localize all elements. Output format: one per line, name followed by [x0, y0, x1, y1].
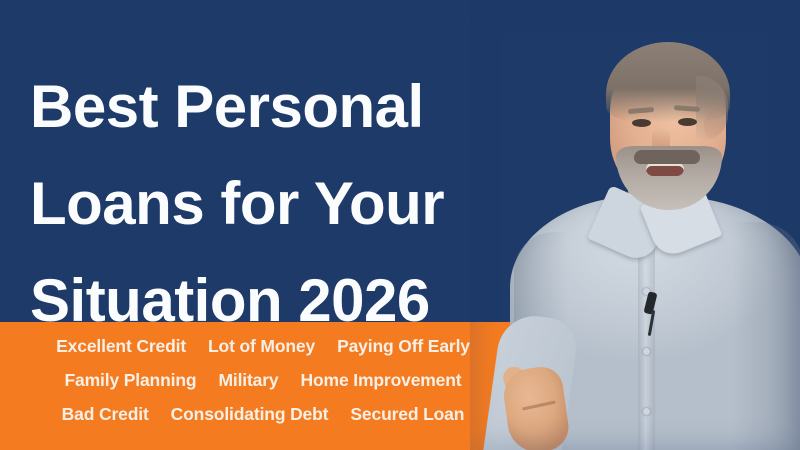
tag-paying-off-early: Paying Off Early	[337, 336, 470, 357]
tag-lot-of-money: Lot of Money	[208, 336, 315, 357]
shirt-shadow-right	[732, 222, 800, 450]
tag-bad-credit: Bad Credit	[62, 404, 149, 425]
tag-consolidating-debt: Consolidating Debt	[171, 404, 329, 425]
tag-secured-loan: Secured Loan	[350, 404, 464, 425]
headline-line-1: Best Personal	[30, 58, 575, 155]
tag-row: Bad Credit Consolidating Debt Secured Lo…	[0, 404, 520, 438]
tag-excellent-credit: Excellent Credit	[56, 336, 186, 357]
headline-line-3: Situation 2026	[30, 252, 575, 349]
loan-category-tag-list: Excellent Credit Lot of Money Paying Off…	[0, 336, 520, 438]
moustache	[634, 150, 700, 164]
shirt-button	[643, 348, 650, 355]
tag-military: Military	[218, 370, 278, 391]
headline-line-2: Loans for Your	[30, 155, 575, 252]
tag-family-planning: Family Planning	[64, 370, 196, 391]
eye-right	[678, 118, 697, 126]
headline: Best Personal Loans for Your Situation 2…	[30, 58, 575, 349]
eye-left	[632, 119, 651, 127]
shirt-button	[643, 408, 650, 415]
tag-row: Excellent Credit Lot of Money Paying Off…	[0, 336, 520, 370]
mouth	[646, 163, 684, 176]
tag-row: Family Planning Military Home Improvemen…	[0, 370, 520, 404]
video-thumbnail: Best Personal Loans for Your Situation 2…	[0, 0, 800, 450]
tag-home-improvement: Home Improvement	[301, 370, 462, 391]
